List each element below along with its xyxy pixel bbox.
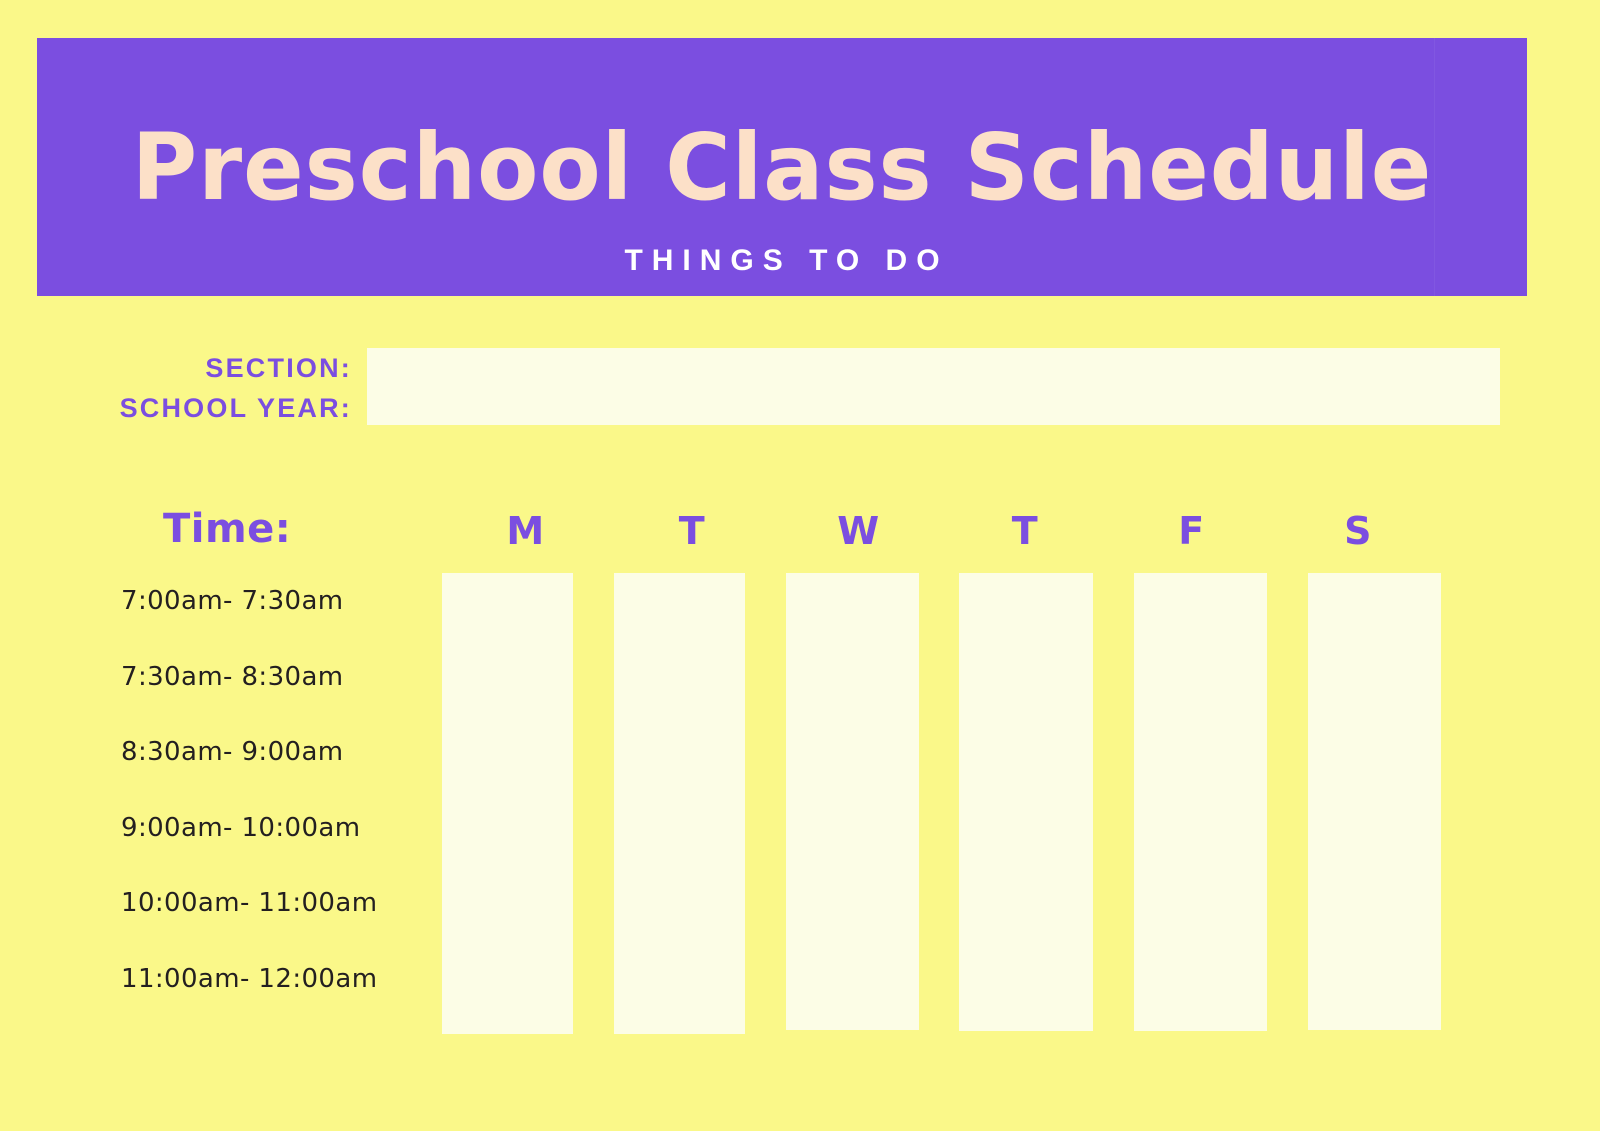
time-slot-label: 7:30am- 8:30am	[121, 664, 431, 740]
day-header-row: M T W T F S	[442, 512, 1441, 556]
day-column-thursday[interactable]	[959, 573, 1093, 1031]
day-header-saturday: S	[1275, 512, 1442, 556]
meta-labels: SECTION: SCHOOL YEAR:	[0, 348, 352, 428]
day-header-tuesday: T	[609, 512, 776, 556]
section-school-year-input[interactable]	[367, 348, 1500, 425]
school-year-label: SCHOOL YEAR:	[0, 388, 352, 428]
page-title: Preschool Class Schedule	[59, 122, 1504, 214]
day-column-saturday[interactable]	[1308, 573, 1441, 1030]
time-slot-label: 10:00am- 11:00am	[121, 890, 431, 966]
day-columns	[442, 573, 1441, 1032]
time-slot-label: 11:00am- 12:00am	[121, 966, 431, 1042]
time-slot-label: 9:00am- 10:00am	[121, 815, 431, 891]
day-header-monday: M	[442, 512, 609, 556]
day-header-friday: F	[1108, 512, 1275, 556]
time-column-heading: Time:	[163, 509, 291, 549]
day-header-thursday: T	[942, 512, 1109, 556]
day-column-wednesday[interactable]	[786, 573, 919, 1030]
header-banner: Preschool Class Schedule THINGS TO DO	[37, 38, 1527, 296]
time-slot-label: 7:00am- 7:30am	[121, 588, 431, 664]
meta-block: SECTION: SCHOOL YEAR:	[0, 348, 1600, 426]
day-column-tuesday[interactable]	[614, 573, 745, 1034]
section-label: SECTION:	[0, 348, 352, 388]
time-slot-label: 8:30am- 9:00am	[121, 739, 431, 815]
schedule-page: Preschool Class Schedule THINGS TO DO SE…	[0, 0, 1600, 1131]
day-column-monday[interactable]	[442, 573, 573, 1034]
page-subtitle: THINGS TO DO	[37, 246, 1527, 276]
day-column-friday[interactable]	[1134, 573, 1267, 1031]
day-header-wednesday: W	[775, 512, 942, 556]
time-slot-column: 7:00am- 7:30am 7:30am- 8:30am 8:30am- 9:…	[121, 588, 431, 1041]
